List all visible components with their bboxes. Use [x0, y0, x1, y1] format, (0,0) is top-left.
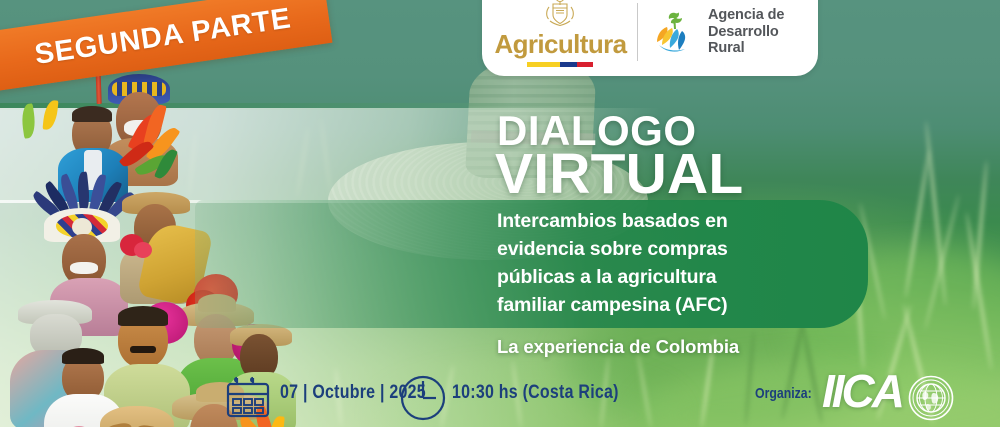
rural-development-agency-logo: Agencia de Desarrollo Rural — [651, 7, 818, 67]
adr-sprout-leaves-icon — [651, 9, 699, 55]
subtitle-line-2: evidencia sobre compras — [497, 235, 797, 263]
adr-label-line1: Agencia de — [708, 7, 818, 24]
organizer-label: Organiza: — [755, 385, 812, 402]
event-time: 10:30 hs (Costa Rica) — [452, 382, 619, 404]
adr-label-line2: Desarrollo Rural — [708, 24, 818, 57]
institutional-logos-card: Agricultura Agencia de — [482, 0, 818, 76]
ministry-of-agriculture-logo: Agricultura — [482, 0, 633, 67]
iica-globe-seal-icon — [908, 375, 954, 426]
subtitle-line-4: familiar campesina (AFC) — [497, 291, 797, 319]
colombia-coat-of-arms-icon — [541, 0, 579, 30]
logo-divider — [637, 3, 638, 61]
experience-text: La experiencia de Colombia — [497, 336, 739, 358]
subtitle-line-1: Intercambios basados en — [497, 207, 797, 235]
ministry-logo-label: Agricultura — [494, 31, 626, 57]
adr-logo-label: Agencia de Desarrollo Rural — [708, 7, 818, 57]
subtitle-line-3: públicas a la agricultura — [497, 263, 797, 291]
colombia-flag-bar — [527, 62, 593, 67]
calendar-icon — [222, 372, 274, 427]
clock-icon — [396, 371, 450, 427]
iica-logo-label: IICA — [822, 368, 902, 414]
subtitle-text: Intercambios basados en evidencia sobre … — [497, 207, 797, 319]
event-info-row: 07 | Octubre | 2025 10:30 hs (Costa Rica… — [0, 370, 1000, 427]
title-line-2: VIRTUAL — [495, 146, 743, 203]
event-banner: SEGUNDA PARTE — [0, 0, 1000, 427]
